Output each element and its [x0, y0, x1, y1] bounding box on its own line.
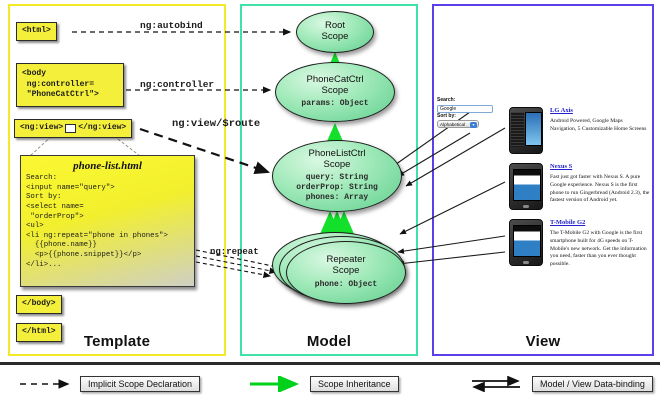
- scope-repeater: Repeater Scope phone: Object: [286, 241, 406, 304]
- view-browser-controls: Search: Google Sort by: Alphabetical ▾: [437, 97, 497, 139]
- phone-name-link[interactable]: T-Mobile G2: [550, 219, 650, 227]
- label-ng-view-route: ng:view/$route: [172, 118, 260, 130]
- scope-root: Root Scope: [296, 11, 374, 53]
- phone-snippet: Android Powered, Google Maps Navigation,…: [550, 118, 650, 133]
- phone-thumbnail-icon: [509, 163, 543, 210]
- label-ng-autobind: ng:autobind: [140, 20, 203, 31]
- phone-name-link[interactable]: Nexus S: [550, 163, 650, 171]
- legend-label: Model / View Data-binding: [532, 376, 653, 392]
- search-input[interactable]: Google: [437, 105, 493, 113]
- dashed-arrow-icon: [18, 376, 74, 392]
- legend: Implicit Scope Declaration Scope Inherit…: [0, 362, 660, 405]
- callout-code: Search: <input name="query"> Sort by: <s…: [21, 174, 194, 270]
- scope-phonelistctrl: PhoneListCtrl Scope query: String orderP…: [272, 140, 402, 212]
- phone-name-link[interactable]: LG Axis: [550, 107, 650, 115]
- scope-root-title: Root Scope: [322, 21, 349, 43]
- phone-snippet: Fast just got faster with Nexus S. A pur…: [550, 174, 650, 204]
- node-body-close: </body>: [16, 295, 62, 314]
- template-callout-phone-list: phone-list.html Search: <input name="que…: [20, 155, 195, 287]
- green-arrow-icon: [248, 376, 304, 392]
- phone-list-item[interactable]: LG Axis Android Powered, Google Maps Nav…: [509, 107, 650, 154]
- node-body-open: <body ng:controller= "PhoneCatCtrl">: [16, 63, 124, 107]
- legend-label: Implicit Scope Declaration: [80, 376, 200, 392]
- phone-list-item[interactable]: T-Mobile G2 The T-Mobile G2 with Google …: [509, 219, 650, 268]
- callout-title: phone-list.html: [21, 156, 194, 174]
- scope-phonelistctrl-props: query: String orderProp: String phones: …: [296, 173, 378, 203]
- search-label: Search:: [437, 97, 497, 105]
- node-html-close: </html>: [16, 323, 62, 342]
- legend-item-data-binding: Model / View Data-binding: [470, 376, 653, 392]
- node-html-open: <html>: [16, 22, 57, 41]
- scope-phonecatctrl-title: PhoneCatCtrl Scope: [306, 75, 363, 97]
- legend-item-scope-inheritance: Scope Inheritance: [248, 376, 399, 392]
- label-ng-repeat: ng:repeat: [210, 247, 259, 257]
- scope-repeater-title: Repeater Scope: [326, 255, 365, 277]
- double-arrow-icon: [470, 376, 526, 392]
- ng-view-open-tag: <ng:view>: [20, 123, 63, 134]
- legend-label: Scope Inheritance: [310, 376, 399, 392]
- sort-select-value: Alphabetical: [440, 122, 465, 127]
- sort-label: Sort by:: [437, 113, 497, 121]
- label-ng-controller: ng:controller: [140, 79, 214, 90]
- panel-view-label: View: [434, 333, 652, 350]
- scope-repeater-props: phone: Object: [315, 280, 377, 290]
- phone-thumbnail-icon: [509, 219, 543, 266]
- legend-item-implicit-scope-declaration: Implicit Scope Declaration: [18, 376, 200, 392]
- phone-snippet: The T-Mobile G2 with Google is the first…: [550, 230, 650, 268]
- scope-phonelistctrl-title: PhoneListCtrl Scope: [308, 149, 365, 171]
- phone-list-item[interactable]: Nexus S Fast just got faster with Nexus …: [509, 163, 650, 210]
- sort-select[interactable]: Alphabetical ▾: [437, 120, 479, 128]
- ng-view-placeholder-icon: [65, 124, 76, 133]
- phone-thumbnail-icon: [509, 107, 543, 154]
- panel-model-label: Model: [242, 333, 416, 350]
- ng-view-close-tag: </ng:view>: [78, 123, 126, 134]
- scope-phonecatctrl: PhoneCatCtrl Scope params: Object: [275, 62, 395, 122]
- scope-phonecatctrl-props: params: Object: [301, 99, 368, 109]
- diagram-canvas: Template Model View: [0, 0, 660, 405]
- node-ng-view: <ng:view></ng:view>: [14, 119, 132, 138]
- chevron-down-icon: ▾: [470, 122, 477, 128]
